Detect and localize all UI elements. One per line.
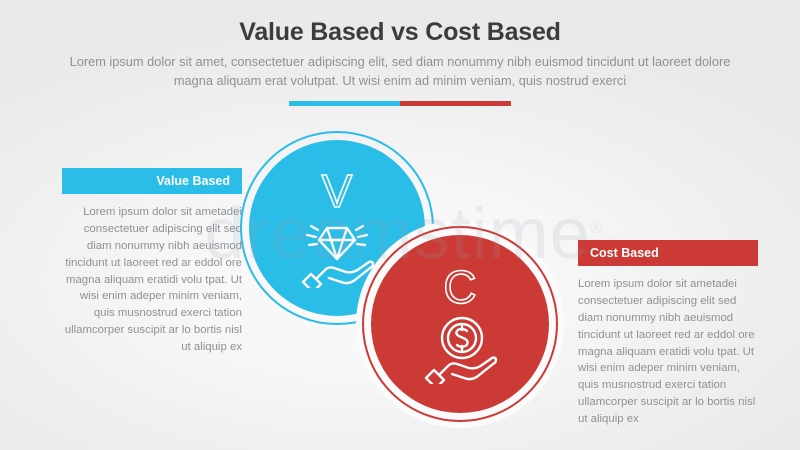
cost-based-circle[interactable]: C — [362, 226, 558, 422]
cost-based-description: Lorem ipsum dolor sit ametadei consectet… — [578, 276, 758, 428]
page-subtitle: Lorem ipsum dolor sit amet, consectetuer… — [55, 52, 745, 91]
divider-segment-red — [400, 101, 511, 106]
value-based-label: Value Based — [62, 168, 242, 194]
infographic-canvas: Value Based vs Cost Based Lorem ipsum do… — [0, 0, 800, 450]
cost-circle-letter: C — [443, 264, 476, 310]
cost-based-label: Cost Based — [578, 240, 758, 266]
value-based-description: Lorem ipsum dolor sit ametadei consectet… — [62, 204, 242, 356]
value-circle-letter: V — [322, 168, 353, 214]
cost-circle-content: C — [362, 226, 558, 422]
divider-segment-blue — [289, 101, 400, 106]
hand-holding-dollar-coin-icon — [412, 312, 508, 384]
cost-based-card: Cost Based Lorem ipsum dolor sit ametade… — [578, 240, 758, 428]
page-title: Value Based vs Cost Based — [0, 18, 800, 46]
value-based-card: Value Based Lorem ipsum dolor sit ametad… — [62, 168, 242, 356]
watermark-registered-mark: ® — [591, 220, 604, 237]
header: Value Based vs Cost Based Lorem ipsum do… — [0, 18, 800, 91]
header-divider — [289, 101, 511, 106]
